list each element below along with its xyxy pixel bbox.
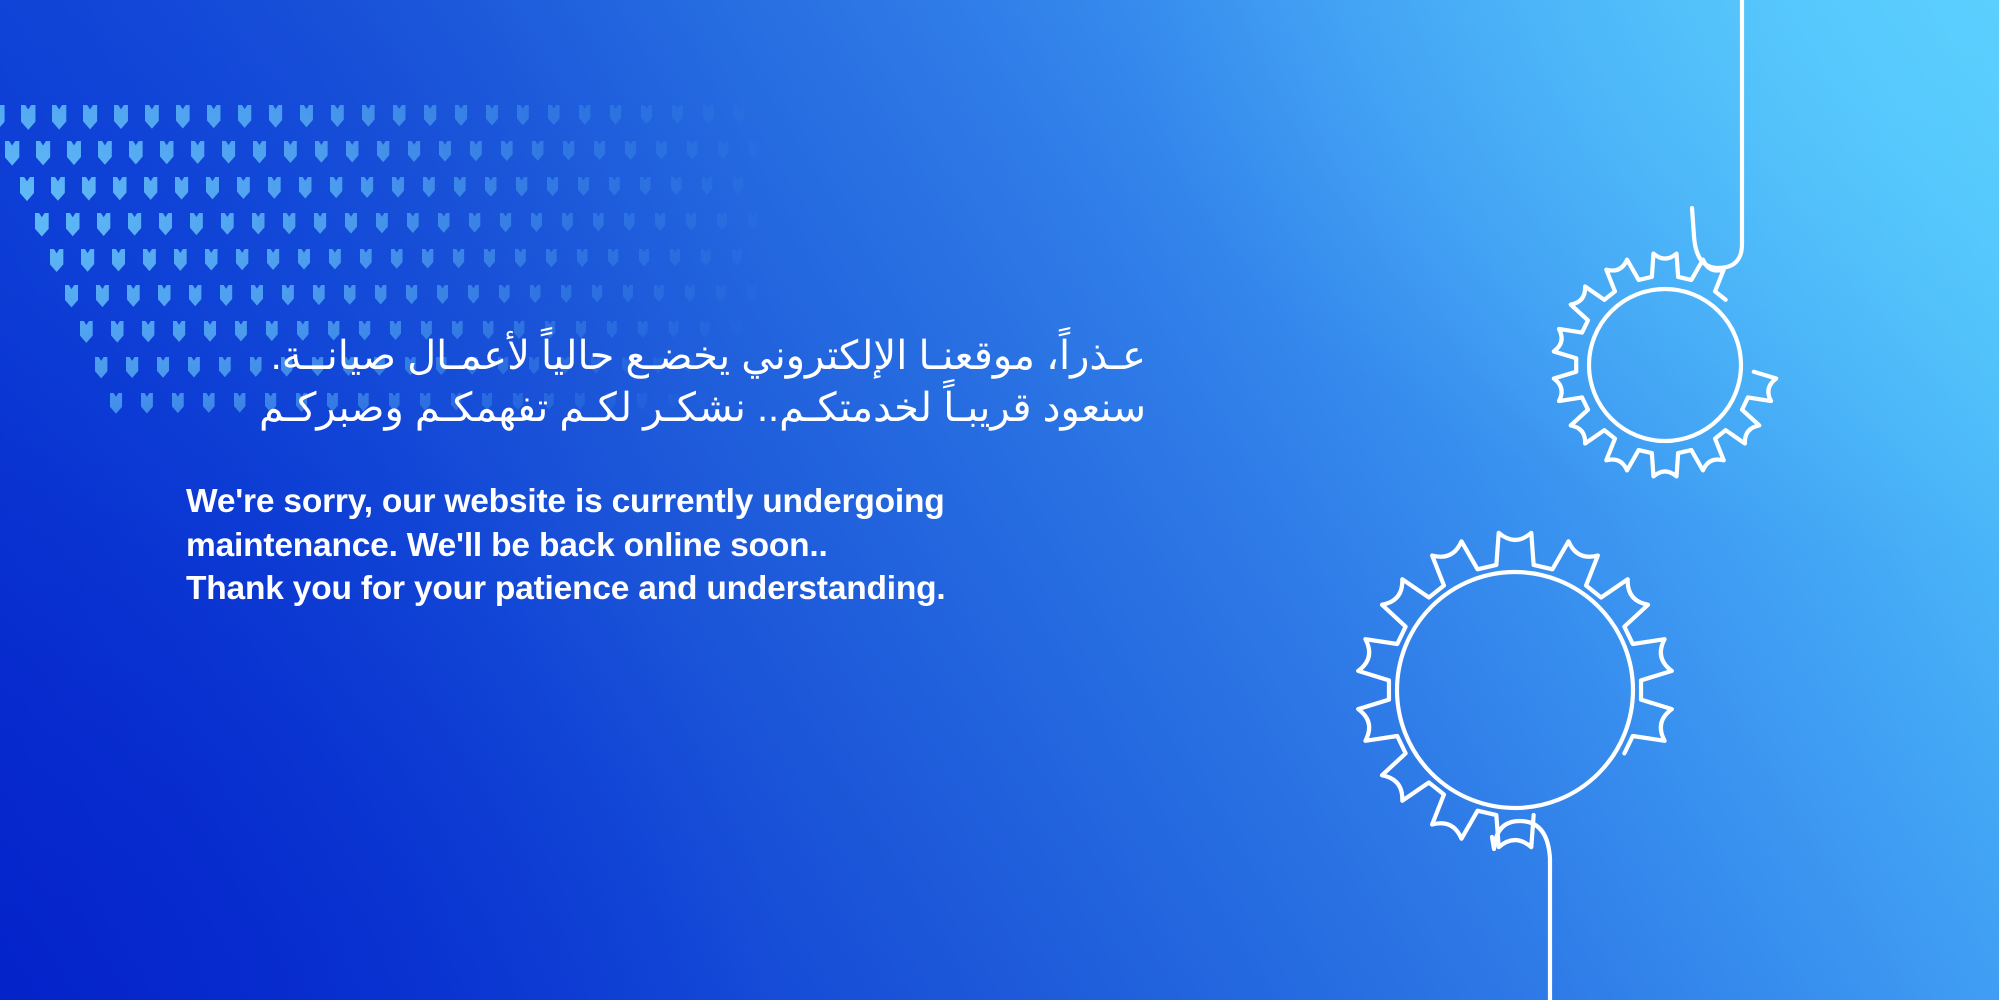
english-line-1: We're sorry, our website is currently un… xyxy=(186,480,1146,524)
arabic-message: عـذراً، موقعنـا الإلكتروني يخضـع حالياً … xyxy=(186,330,1146,434)
maintenance-page: عـذراً، موقعنـا الإلكتروني يخضـع حالياً … xyxy=(0,0,1999,1000)
arabic-line-1: عـذراً، موقعنـا الإلكتروني يخضـع حالياً … xyxy=(202,330,1146,382)
arabic-line-2: سنعود قريبـاً لخدمتكـم.. نشكـر لكـم تفهم… xyxy=(202,382,1146,434)
english-line-2: maintenance. We'll be back online soon.. xyxy=(186,524,1146,568)
english-message: We're sorry, our website is currently un… xyxy=(186,480,1146,611)
english-line-3: Thank you for your patience and understa… xyxy=(186,567,1146,611)
message-block: عـذراً، موقعنـا الإلكتروني يخضـع حالياً … xyxy=(186,330,1146,611)
